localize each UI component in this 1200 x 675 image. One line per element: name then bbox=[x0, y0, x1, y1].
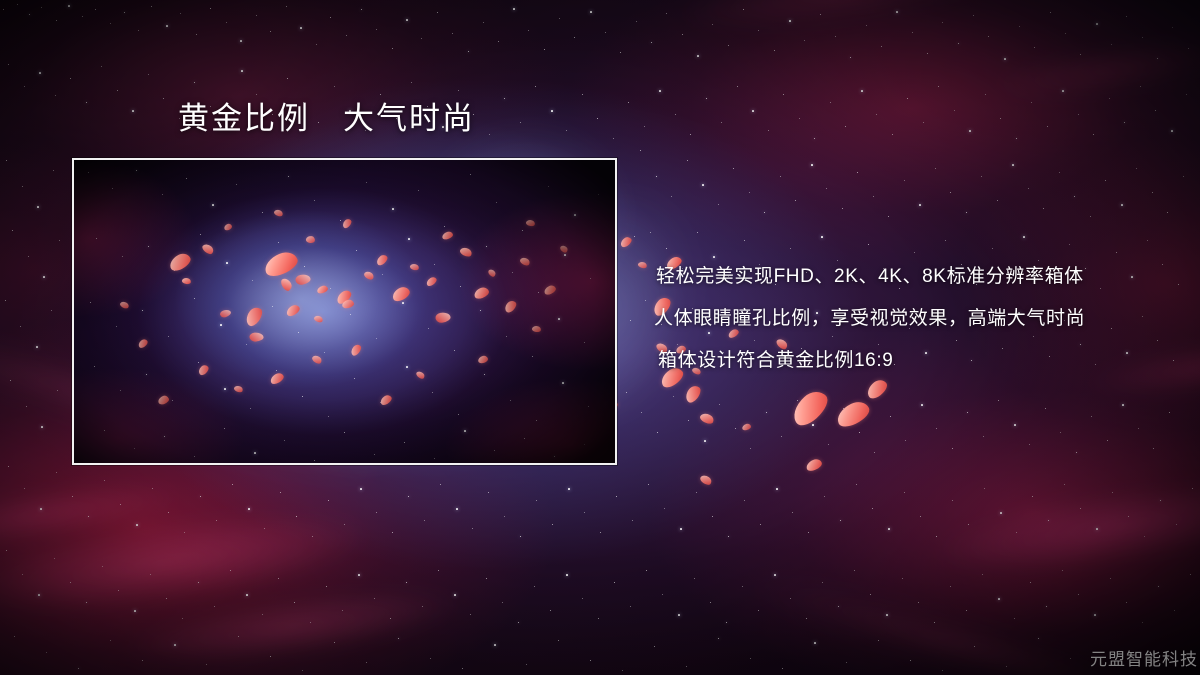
body-copy-block: 轻松完美实现FHD、2K、4K、8K标准分辨率箱体 人体眼睛瞳孔比例，享受视觉效… bbox=[656, 256, 1156, 382]
page-title: 黄金比例 大气时尚 bbox=[178, 101, 475, 137]
body-line-2: 人体眼睛瞳孔比例，享受视觉效果，高端大气时尚 bbox=[654, 298, 1156, 340]
body-line-1: 轻松完美实现FHD、2K、4K、8K标准分辨率箱体 bbox=[656, 256, 1156, 298]
body-line-3: 箱体设计符合黄金比例16:9 bbox=[658, 340, 1156, 382]
watermark-brand: 元盟智能科技 bbox=[1090, 645, 1198, 670]
slide-canvas: 黄金比例 大气时尚 轻松完美实现FHD、2K、4K、8K标准分辨率箱体 人体眼睛… bbox=[0, 0, 1200, 675]
framed-visual-panel bbox=[72, 158, 617, 465]
inner-vignette bbox=[74, 160, 615, 463]
